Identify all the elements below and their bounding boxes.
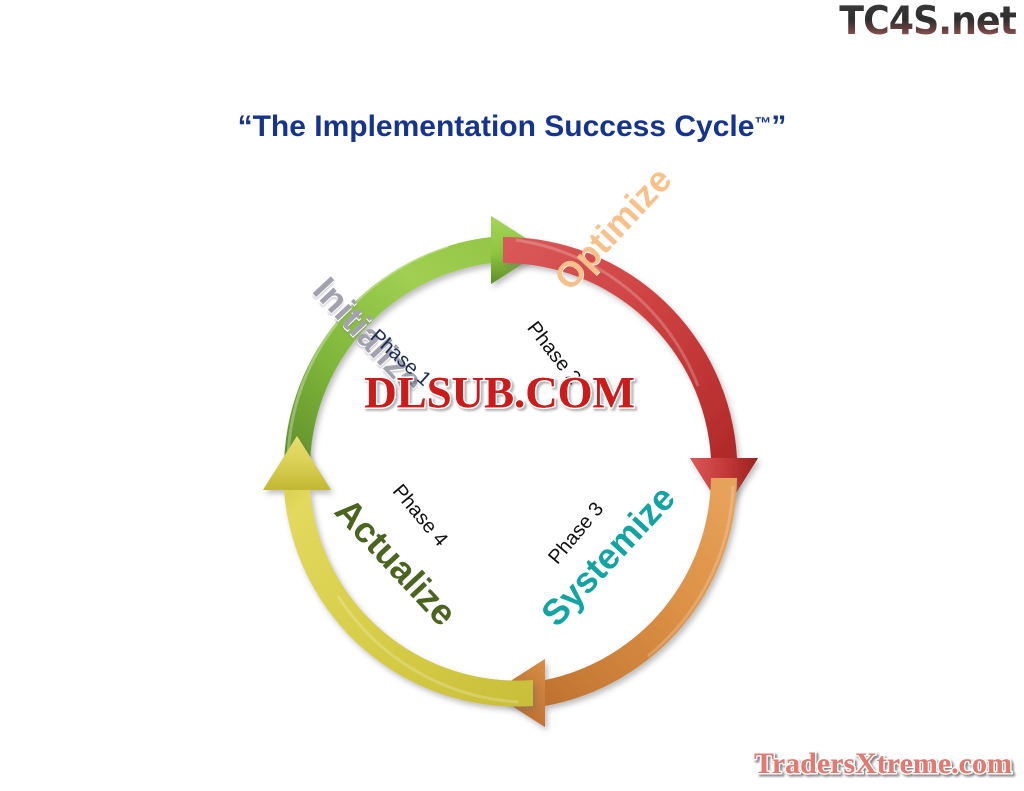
brand-logo-tradersxtreme: TradersXtreme.com bbox=[754, 749, 1012, 779]
watermark-dlsub: DLSUB.COM bbox=[364, 371, 635, 415]
brand-logo-tc4s: TC4S.net bbox=[839, 2, 1016, 41]
page-title: “The Implementation Success Cycle™” bbox=[0, 110, 1024, 144]
page-title-text: “The Implementation Success Cycle bbox=[238, 110, 755, 143]
trademark-symbol: ™ bbox=[754, 114, 771, 133]
page-title-close-quote: ” bbox=[771, 110, 786, 143]
